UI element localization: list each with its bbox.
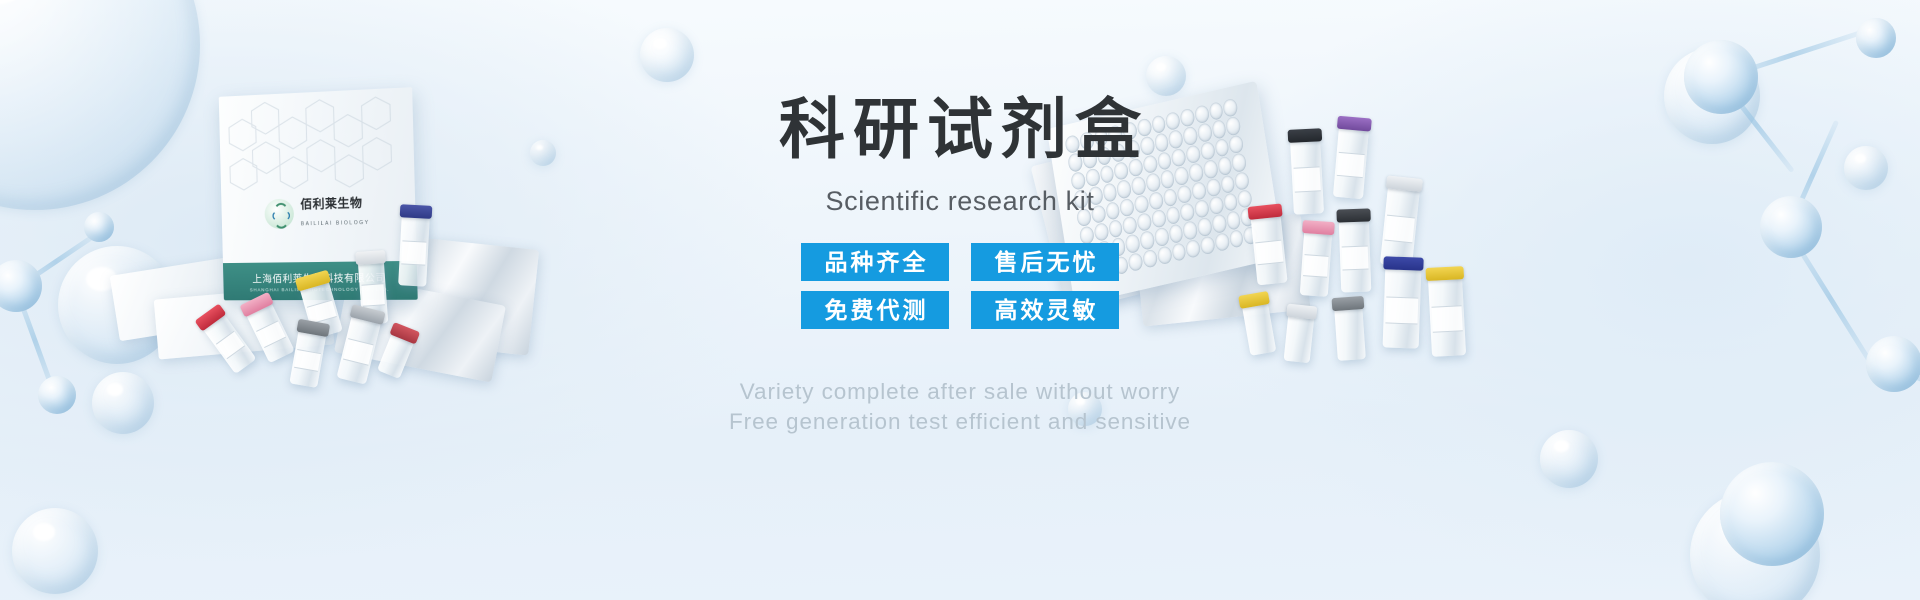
banner-text-block: 科研试剂盒 Scientific research kit 品种齐全 售后无忧 …: [0, 96, 1920, 438]
feature-badge-grid: 品种齐全 售后无忧 免费代测 高效灵敏: [801, 243, 1119, 329]
feature-badge-free-test[interactable]: 免费代测: [801, 291, 949, 329]
page-subtitle: Scientific research kit: [0, 186, 1920, 217]
tagline-line-2: Free generation test efficient and sensi…: [0, 407, 1920, 437]
bubble-decoration: [1690, 490, 1820, 600]
feature-badge-aftersale[interactable]: 售后无忧: [971, 243, 1119, 281]
page-title: 科研试剂盒: [0, 96, 1920, 162]
bubble-decoration: [12, 508, 98, 594]
tagline-line-1: Variety complete after sale without worr…: [0, 377, 1920, 407]
hero-banner: 佰利莱生物 BAILILAI BIOLOGY 上海佰利莱生物科技有限公司 SHA…: [0, 0, 1920, 600]
bubble-decoration: [640, 28, 694, 82]
tagline-block: Variety complete after sale without worr…: [0, 377, 1920, 438]
feature-badge-sensitive[interactable]: 高效灵敏: [971, 291, 1119, 329]
bubble-decoration: [1540, 430, 1598, 488]
feature-badge-variety[interactable]: 品种齐全: [801, 243, 949, 281]
